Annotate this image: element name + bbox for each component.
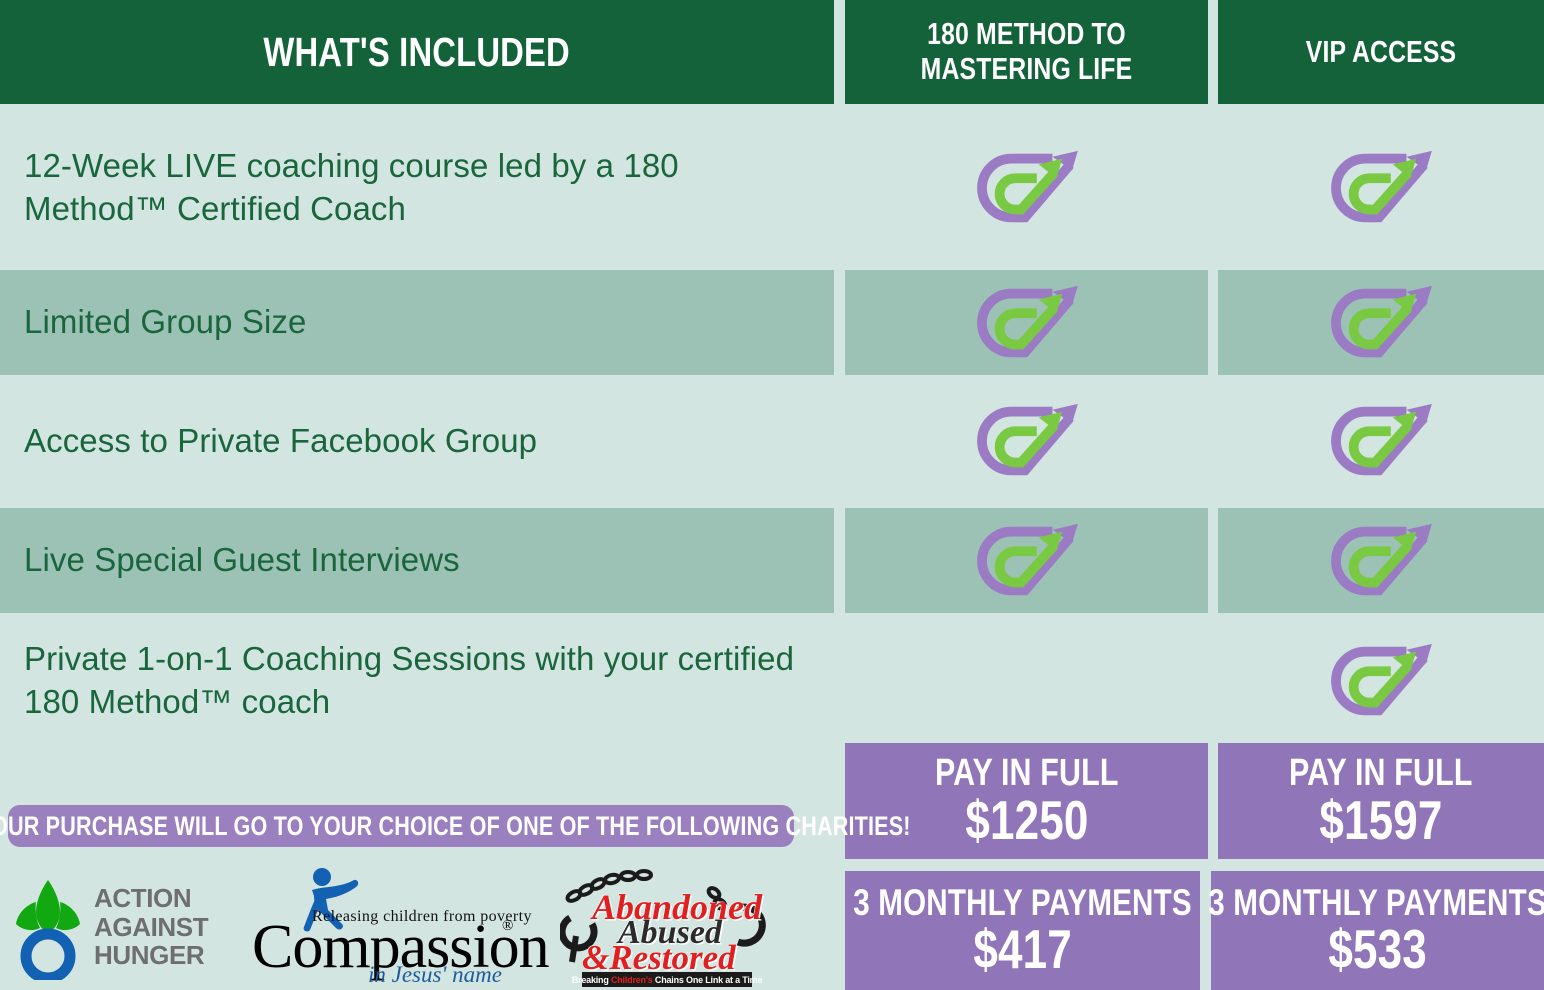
180-method-arrow-check-icon [1322,278,1440,368]
table-header: WHAT'S INCLUDED 180 METHOD TO MASTERING … [0,0,1544,104]
header-cell-included: WHAT'S INCLUDED [0,0,834,104]
aah-line-2: AGAINST [94,913,208,942]
aar-tagline: Breaking Children's Chains One Link at a… [572,975,763,985]
check-cell-vip [1218,508,1544,613]
core-pay-in-full-label: PAY IN FULL [935,754,1119,792]
check-cell-core [845,112,1208,264]
action-against-hunger-mark-icon [8,872,88,980]
core-monthly-amount: $417 [973,921,1072,977]
180-method-arrow-check-icon [1322,143,1440,233]
180-method-arrow-check-icon [1322,636,1440,726]
logo-compassion: Releasing children from poverty Compassi… [250,866,530,986]
180-method-arrow-check-icon [968,143,1086,233]
header-cell-core-plan: 180 METHOD TO MASTERING LIFE [845,0,1208,104]
action-against-hunger-wordmark: ACTION AGAINST HUNGER [94,884,208,970]
aar-tagline-bar: Breaking Children's Chains One Link at a… [582,972,752,987]
aah-line-1: ACTION [94,884,208,913]
header-included-label: WHAT'S INCLUDED [264,29,571,76]
header-core-label: 180 METHOD TO MASTERING LIFE [881,17,1171,86]
compassion-registered-mark: ® [502,918,513,935]
compassion-tagline-bottom: in Jesus' name [368,962,502,988]
180-method-arrow-check-icon [968,396,1086,486]
logo-action-against-hunger: ACTION AGAINST HUNGER [8,872,238,980]
180-method-arrow-check-icon [968,278,1086,368]
price-box-core-monthly[interactable]: 3 MONTHLY PAYMENTS $417 [845,871,1200,990]
check-cell-vip [1218,112,1544,264]
check-cell-vip [1218,270,1544,375]
price-box-vip-monthly[interactable]: 3 MONTHLY PAYMENTS $533 [1211,871,1544,990]
charity-banner: 10% OF YOUR PURCHASE WILL GO TO YOUR CHO… [8,805,794,847]
check-cell-core [845,270,1208,375]
feature-label: Access to Private Facebook Group [24,382,824,500]
header-cell-vip-plan: VIP ACCESS [1218,0,1544,104]
feature-label: Private 1-on-1 Coaching Sessions with yo… [24,622,824,740]
charity-banner-text: 10% OF YOUR PURCHASE WILL GO TO YOUR CHO… [0,811,911,842]
core-pay-in-full-amount: $1250 [965,792,1088,848]
check-cell-core [845,382,1208,500]
vip-pay-in-full-label: PAY IN FULL [1289,754,1473,792]
180-method-arrow-check-icon [968,516,1086,606]
price-box-core-pay-in-full[interactable]: PAY IN FULL $1250 [845,743,1208,859]
180-method-arrow-check-icon [1322,516,1440,606]
feature-label: Limited Group Size [24,270,824,375]
180-method-arrow-check-icon [1322,396,1440,486]
check-cell-vip [1218,382,1544,500]
aah-line-3: HUNGER [94,941,208,970]
feature-label: 12-Week LIVE coaching course led by a 18… [24,112,824,264]
feature-label: Live Special Guest Interviews [24,508,824,613]
vip-pay-in-full-amount: $1597 [1319,792,1442,848]
price-box-vip-pay-in-full[interactable]: PAY IN FULL $1597 [1218,743,1544,859]
charity-logos: ACTION AGAINST HUNGER Releasing children… [0,862,830,990]
header-vip-label: VIP ACCESS [1306,35,1456,70]
check-cell-vip [1218,622,1544,740]
logo-abandoned-abused-restored: Abandoned Abused &Restored Breaking Chil… [560,866,770,986]
core-monthly-label: 3 MONTHLY PAYMENTS [853,884,1191,921]
check-cell-core [845,508,1208,613]
vip-monthly-label: 3 MONTHLY PAYMENTS [1208,884,1544,921]
vip-monthly-amount: $533 [1328,921,1427,977]
